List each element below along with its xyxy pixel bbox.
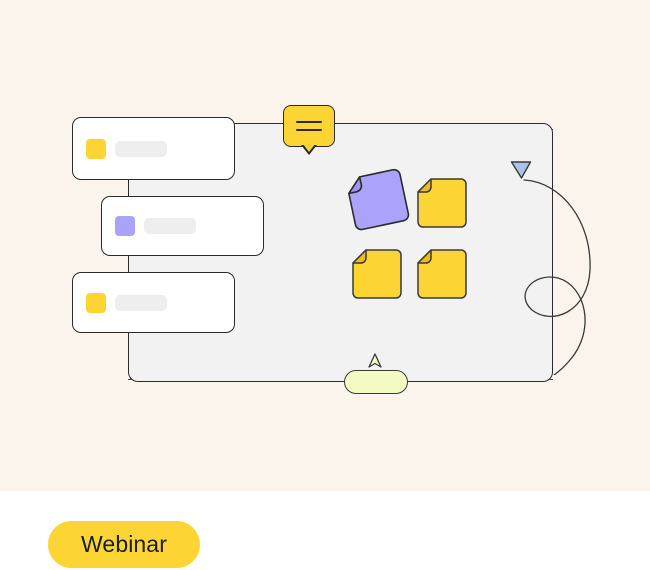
flow-card-1[interactable] [72, 117, 235, 180]
cursor-down-icon [510, 160, 532, 180]
flow-card-3-placeholder-bar [115, 295, 167, 311]
note-card-purple[interactable] [341, 166, 411, 236]
cursor-up-icon [367, 353, 383, 369]
flow-card-1-swatch-icon [86, 139, 106, 159]
comment-bubble-line-1 [296, 121, 322, 123]
note-card-yellow-3[interactable] [417, 249, 467, 299]
webinar-button[interactable]: Webinar [48, 521, 200, 568]
flow-card-3-swatch-icon [86, 293, 106, 313]
comment-bubble-icon[interactable] [283, 105, 335, 147]
note-card-yellow-2[interactable] [352, 249, 402, 299]
flow-card-2-swatch-icon [115, 216, 135, 236]
hero-illustration-area [0, 0, 650, 491]
flow-card-3[interactable] [72, 272, 235, 333]
footer-area: Webinar [0, 491, 650, 570]
comment-bubble-line-2 [296, 129, 322, 131]
page-root: Webinar [0, 0, 650, 570]
flow-card-2[interactable] [101, 196, 264, 256]
flow-card-2-placeholder-bar [144, 218, 196, 234]
flow-card-1-placeholder-bar [115, 141, 167, 157]
status-pill[interactable] [344, 370, 408, 394]
note-card-yellow-1[interactable] [417, 178, 467, 228]
